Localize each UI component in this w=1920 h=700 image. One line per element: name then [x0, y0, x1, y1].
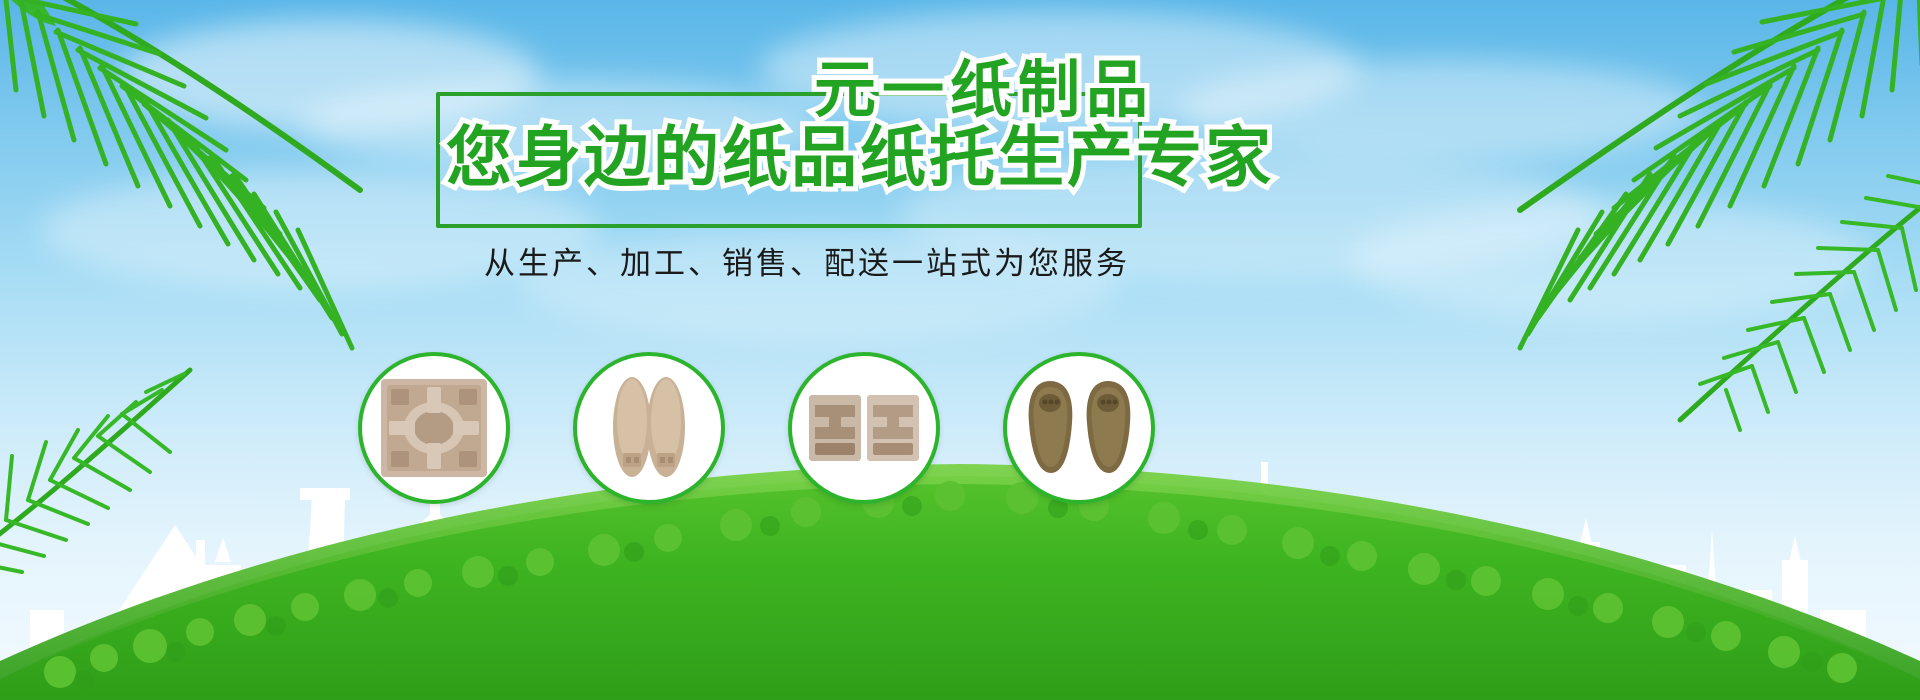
product-circle-1[interactable] [358, 352, 510, 504]
product-circle-4[interactable] [1003, 352, 1155, 504]
paper-pulp-shoe-support-icon [590, 373, 708, 483]
product-circle-2[interactable] [573, 352, 725, 504]
product-circle-row [0, 352, 1920, 512]
paper-pulp-corner-pair-icon [805, 373, 923, 483]
headline-title: 您身边的纸品纸托生产专家 [446, 124, 1274, 190]
banner-stage: 元一纸制品 您身边的纸品纸托生产专家 从生产、加工、销售、配送一站式为您服务 [0, 0, 1920, 700]
subtitle-text: 从生产、加工、销售、配送一站式为您服务 [484, 238, 1104, 283]
headline-frame: 元一纸制品 您身边的纸品纸托生产专家 [436, 92, 1142, 228]
product-circle-3[interactable] [788, 352, 940, 504]
brand-title: 元一纸制品 [814, 60, 1154, 122]
paper-pulp-shoe-tree-pair-icon [1020, 373, 1138, 483]
paper-pulp-square-tray-icon [375, 373, 493, 483]
